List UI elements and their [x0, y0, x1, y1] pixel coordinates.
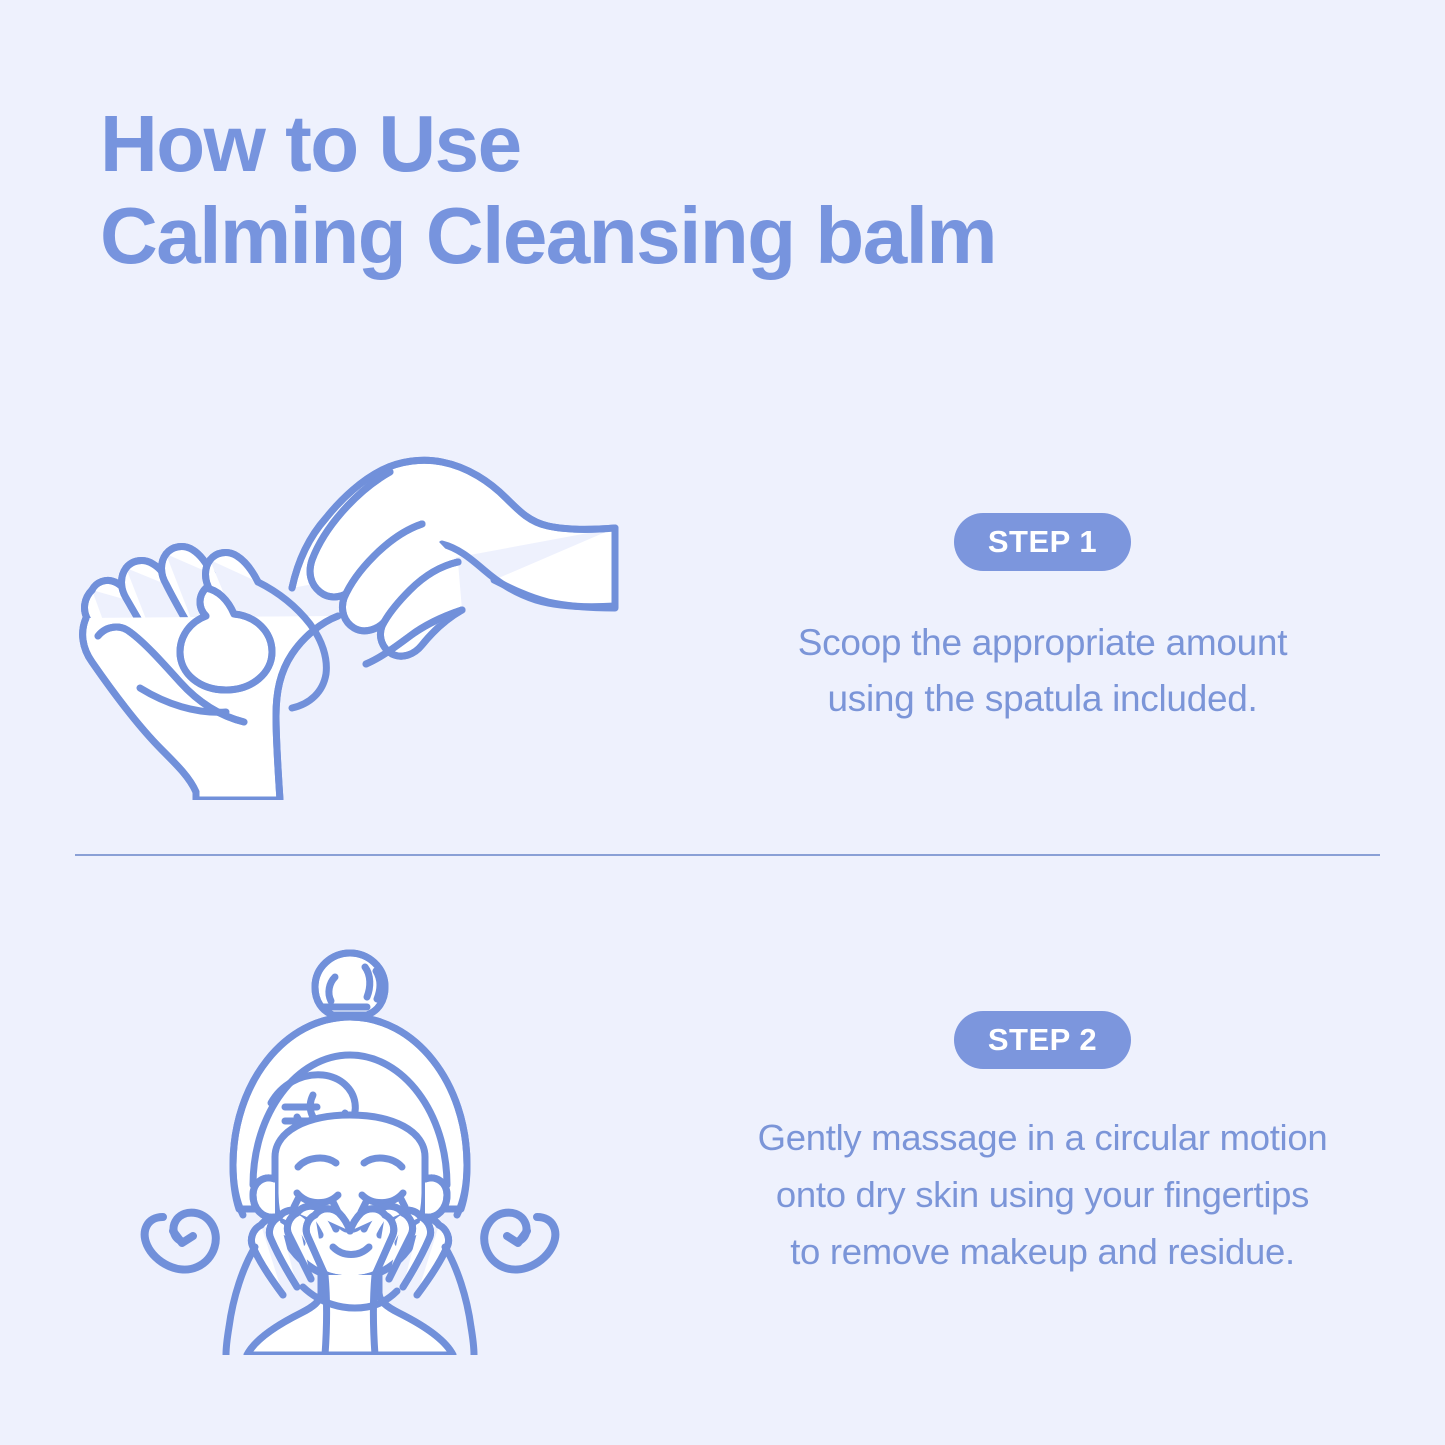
page-title-line-2: Calming Cleansing balm: [100, 190, 1250, 282]
step-1-description: Scoop the appropriate amount using the s…: [798, 615, 1287, 727]
step-1-text-cell: STEP 1 Scoop the appropriate amount usin…: [700, 513, 1445, 727]
page-title-line-1: How to Use: [100, 98, 1250, 190]
step-1-badge: STEP 1: [954, 513, 1131, 571]
step-1-section: STEP 1 Scoop the appropriate amount usin…: [0, 420, 1445, 820]
page-title: How to Use Calming Cleansing balm: [100, 98, 1250, 282]
step-2-text-cell: STEP 2 Gently massage in a circular moti…: [700, 1011, 1445, 1280]
woman-massaging-face-icon: [135, 935, 565, 1355]
how-to-use-infographic: How to Use Calming Cleansing balm: [0, 0, 1445, 1445]
circular-motion-swirl-right-icon: [484, 1213, 555, 1270]
circular-motion-swirl-left-icon: [145, 1213, 216, 1270]
step-1-illustration-cell: [0, 440, 700, 800]
hands-scooping-balm-icon: [70, 440, 630, 800]
step-2-section: STEP 2 Gently massage in a circular moti…: [0, 935, 1445, 1355]
step-2-illustration-cell: [0, 935, 700, 1355]
section-divider: [75, 854, 1380, 856]
step-2-badge: STEP 2: [954, 1011, 1131, 1069]
step-2-description: Gently massage in a circular motion onto…: [758, 1109, 1328, 1280]
